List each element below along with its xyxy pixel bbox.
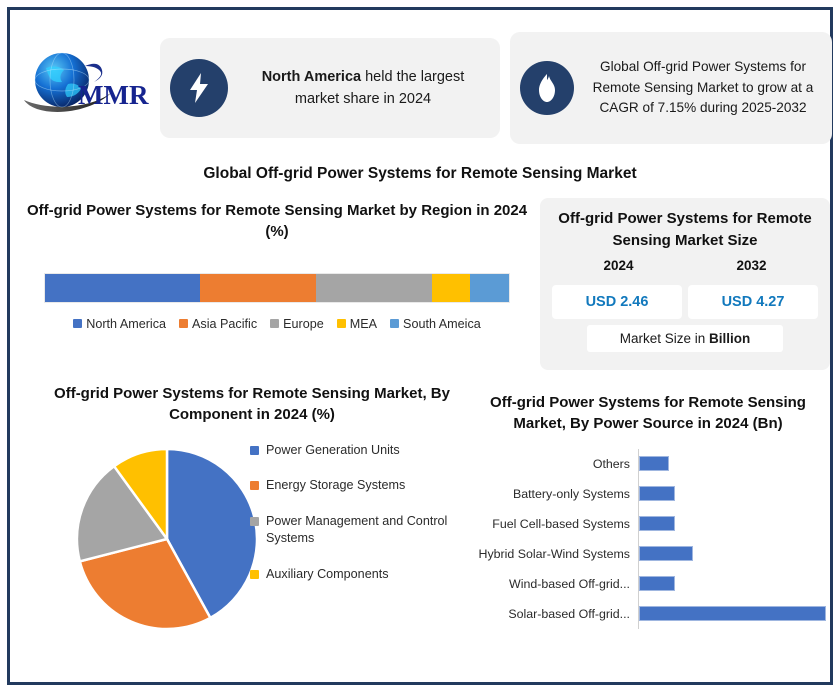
region-legend-label: North America <box>86 317 166 331</box>
flame-icon <box>520 61 574 115</box>
header-card-cagr: Global Off-grid Power Systems for Remote… <box>510 32 832 144</box>
power-source-bar-label: Wind-based Off-grid... <box>470 577 638 591</box>
globe-swoosh-logo-icon: MMR <box>16 44 156 124</box>
power-source-bar-track <box>638 509 826 539</box>
component-pie-chart <box>72 446 262 632</box>
region-legend-item: North America <box>73 317 166 331</box>
power-source-chart-block: Off-grid Power Systems for Remote Sensin… <box>470 392 826 639</box>
region-chart-title: Off-grid Power Systems for Remote Sensin… <box>22 200 532 243</box>
region-segment <box>432 274 469 302</box>
power-source-bar-row: Hybrid Solar-Wind Systems <box>470 539 826 569</box>
region-legend-label: South Ameica <box>403 317 481 331</box>
power-source-bar-fill <box>639 456 669 471</box>
legend-swatch-icon <box>250 446 259 455</box>
market-size-title: Off-grid Power Systems for Remote Sensin… <box>552 208 818 252</box>
region-stacked-bar <box>44 273 510 303</box>
legend-swatch-icon <box>179 319 188 328</box>
component-chart-block: Off-grid Power Systems for Remote Sensin… <box>22 383 482 632</box>
header-card-cagr-text: Global Off-grid Power Systems for Remote… <box>586 57 820 118</box>
legend-swatch-icon <box>337 319 346 328</box>
region-legend-item: Asia Pacific <box>179 317 257 331</box>
power-source-bar-fill <box>639 486 675 501</box>
region-chart-block: Off-grid Power Systems for Remote Sensin… <box>22 200 532 331</box>
power-source-bar-track <box>638 479 826 509</box>
power-source-bar-row: Fuel Cell-based Systems <box>470 509 826 539</box>
component-legend-item: Energy Storage Systems <box>250 477 480 495</box>
svg-text:MMR: MMR <box>78 80 149 110</box>
power-source-bar-label: Solar-based Off-grid... <box>470 607 638 621</box>
region-legend-item: Europe <box>270 317 324 331</box>
market-size-unit-prefix: Market Size in <box>620 331 709 346</box>
legend-swatch-icon <box>250 481 259 490</box>
power-source-bar-row: Wind-based Off-grid... <box>470 569 826 599</box>
mmr-logo: MMR <box>16 44 156 124</box>
component-legend-item: Power Generation Units <box>250 442 480 460</box>
market-size-value-2032: USD 4.27 <box>688 285 818 319</box>
power-source-bar-track <box>638 449 826 479</box>
market-size-unit-strong: Billion <box>709 331 750 346</box>
region-segment <box>200 274 316 302</box>
region-legend-label: Asia Pacific <box>192 317 257 331</box>
power-source-bar-label: Others <box>470 457 638 471</box>
market-size-panel: Off-grid Power Systems for Remote Sensin… <box>540 198 830 370</box>
component-chart-legend: Power Generation UnitsEnergy Storage Sys… <box>250 442 480 602</box>
legend-swatch-icon <box>390 319 399 328</box>
header-card-region: North America held the largest market sh… <box>160 38 500 138</box>
market-size-year-right: 2032 <box>685 258 818 273</box>
component-chart-area: Power Generation UnitsEnergy Storage Sys… <box>22 442 482 632</box>
power-source-chart-title: Off-grid Power Systems for Remote Sensin… <box>470 392 826 435</box>
market-size-years: 2024 2032 <box>552 258 818 273</box>
header-card-region-strong: North America <box>262 69 361 85</box>
legend-swatch-icon <box>250 517 259 526</box>
component-chart-title: Off-grid Power Systems for Remote Sensin… <box>22 383 482 426</box>
market-size-year-left: 2024 <box>552 258 685 273</box>
legend-swatch-icon <box>270 319 279 328</box>
lightning-bolt-icon <box>170 59 228 117</box>
component-legend-label: Power Management and Control Systems <box>266 513 480 548</box>
power-source-bar-row: Battery-only Systems <box>470 479 826 509</box>
market-size-value-2024: USD 2.46 <box>552 285 682 319</box>
page-title: Global Off-grid Power Systems for Remote… <box>0 165 840 183</box>
component-legend-label: Power Generation Units <box>266 442 400 460</box>
infographic-page: MMR North America held the largest marke… <box>0 0 840 692</box>
power-source-bar-track <box>638 569 826 599</box>
header-card-region-text: North America held the largest market sh… <box>240 66 486 111</box>
region-segment <box>45 274 200 302</box>
power-source-bar-row: Solar-based Off-grid... <box>470 599 826 629</box>
region-segment <box>470 274 509 302</box>
power-source-bar-track <box>638 539 826 569</box>
legend-swatch-icon <box>250 570 259 579</box>
power-source-bar-track <box>638 599 826 629</box>
component-legend-item: Auxiliary Components <box>250 566 480 584</box>
power-source-bar-label: Hybrid Solar-Wind Systems <box>470 547 638 561</box>
region-segment <box>316 274 432 302</box>
power-source-bar-row: Others <box>470 449 826 479</box>
power-source-bar-fill <box>639 546 693 561</box>
component-legend-item: Power Management and Control Systems <box>250 513 480 548</box>
power-source-bar-chart: OthersBattery-only SystemsFuel Cell-base… <box>470 449 826 639</box>
component-legend-label: Auxiliary Components <box>266 566 389 584</box>
power-source-bar-fill <box>639 516 675 531</box>
power-source-bar-label: Battery-only Systems <box>470 487 638 501</box>
market-size-values: USD 2.46 USD 4.27 <box>552 285 818 319</box>
region-legend-item: South Ameica <box>390 317 481 331</box>
market-size-unit-note: Market Size in Billion <box>587 325 783 352</box>
legend-swatch-icon <box>73 319 82 328</box>
region-legend-item: MEA <box>337 317 377 331</box>
region-chart-legend: North AmericaAsia PacificEuropeMEASouth … <box>22 317 532 331</box>
component-legend-label: Energy Storage Systems <box>266 477 405 495</box>
header: MMR North America held the largest marke… <box>8 30 824 142</box>
power-source-bar-label: Fuel Cell-based Systems <box>470 517 638 531</box>
region-legend-label: Europe <box>283 317 324 331</box>
region-legend-label: MEA <box>350 317 377 331</box>
power-source-bar-fill <box>639 576 675 591</box>
power-source-bar-fill <box>639 606 826 621</box>
